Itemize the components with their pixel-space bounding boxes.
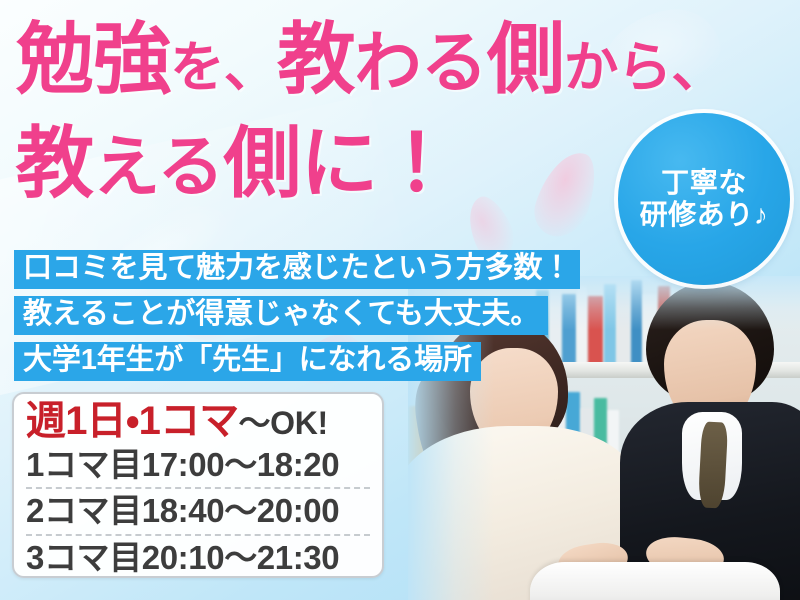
training-badge: 丁寧な 研修あり♪ — [618, 113, 790, 285]
schedule-headline: 週1日・1コマ〜OK! — [26, 401, 370, 441]
schedule-headline-red: 週1日・1コマ — [26, 399, 239, 443]
headline-seg: える — [93, 130, 223, 205]
schedule-card: 週1日・1コマ〜OK! 1コマ目17:00〜18:20 2コマ目18:40〜20… — [12, 392, 384, 578]
headline-seg: 側 — [487, 15, 564, 103]
headline-seg: を、 — [170, 37, 277, 98]
schedule-headline-ok: 〜OK! — [239, 405, 328, 441]
headline-seg: 教 — [277, 15, 354, 103]
schedule-row-3: 3コマ目20:10〜21:30 — [26, 537, 370, 579]
schedule-row-1: 1コマ目17:00〜18:20 — [26, 444, 370, 486]
schedule-separator — [26, 534, 370, 536]
headline-seg: 側に！ — [223, 119, 454, 207]
headline-seg: 教 — [16, 119, 93, 207]
headline-line-2: 教える側に！ — [16, 124, 455, 202]
recruitment-banner: 勉強を、教わる側から、 教える側に！ 丁寧な 研修あり♪ 口コミを見て魅力を感じ… — [0, 0, 800, 600]
headline-seg: から、 — [564, 37, 725, 98]
schedule-separator — [26, 487, 370, 489]
headline-seg: わる — [355, 26, 487, 101]
badge-line-2: 研修あり♪ — [640, 199, 769, 231]
selling-point-1: 口コミを見て魅力を感じたという方多数！ — [14, 250, 580, 289]
schedule-row-2: 2コマ目18:40〜20:00 — [26, 490, 370, 532]
headline-seg: 勉強 — [16, 15, 170, 103]
selling-point-2: 教えることが得意じゃなくても大丈夫。 — [14, 296, 548, 335]
headline-line-1: 勉強を、教わる側から、 — [16, 20, 725, 98]
petal-decoration-icon — [528, 144, 605, 244]
open-textbook — [530, 562, 780, 600]
selling-point-3: 大学1年生が「先生」になれる場所 — [14, 342, 481, 381]
badge-line-1: 丁寧な — [661, 167, 747, 199]
